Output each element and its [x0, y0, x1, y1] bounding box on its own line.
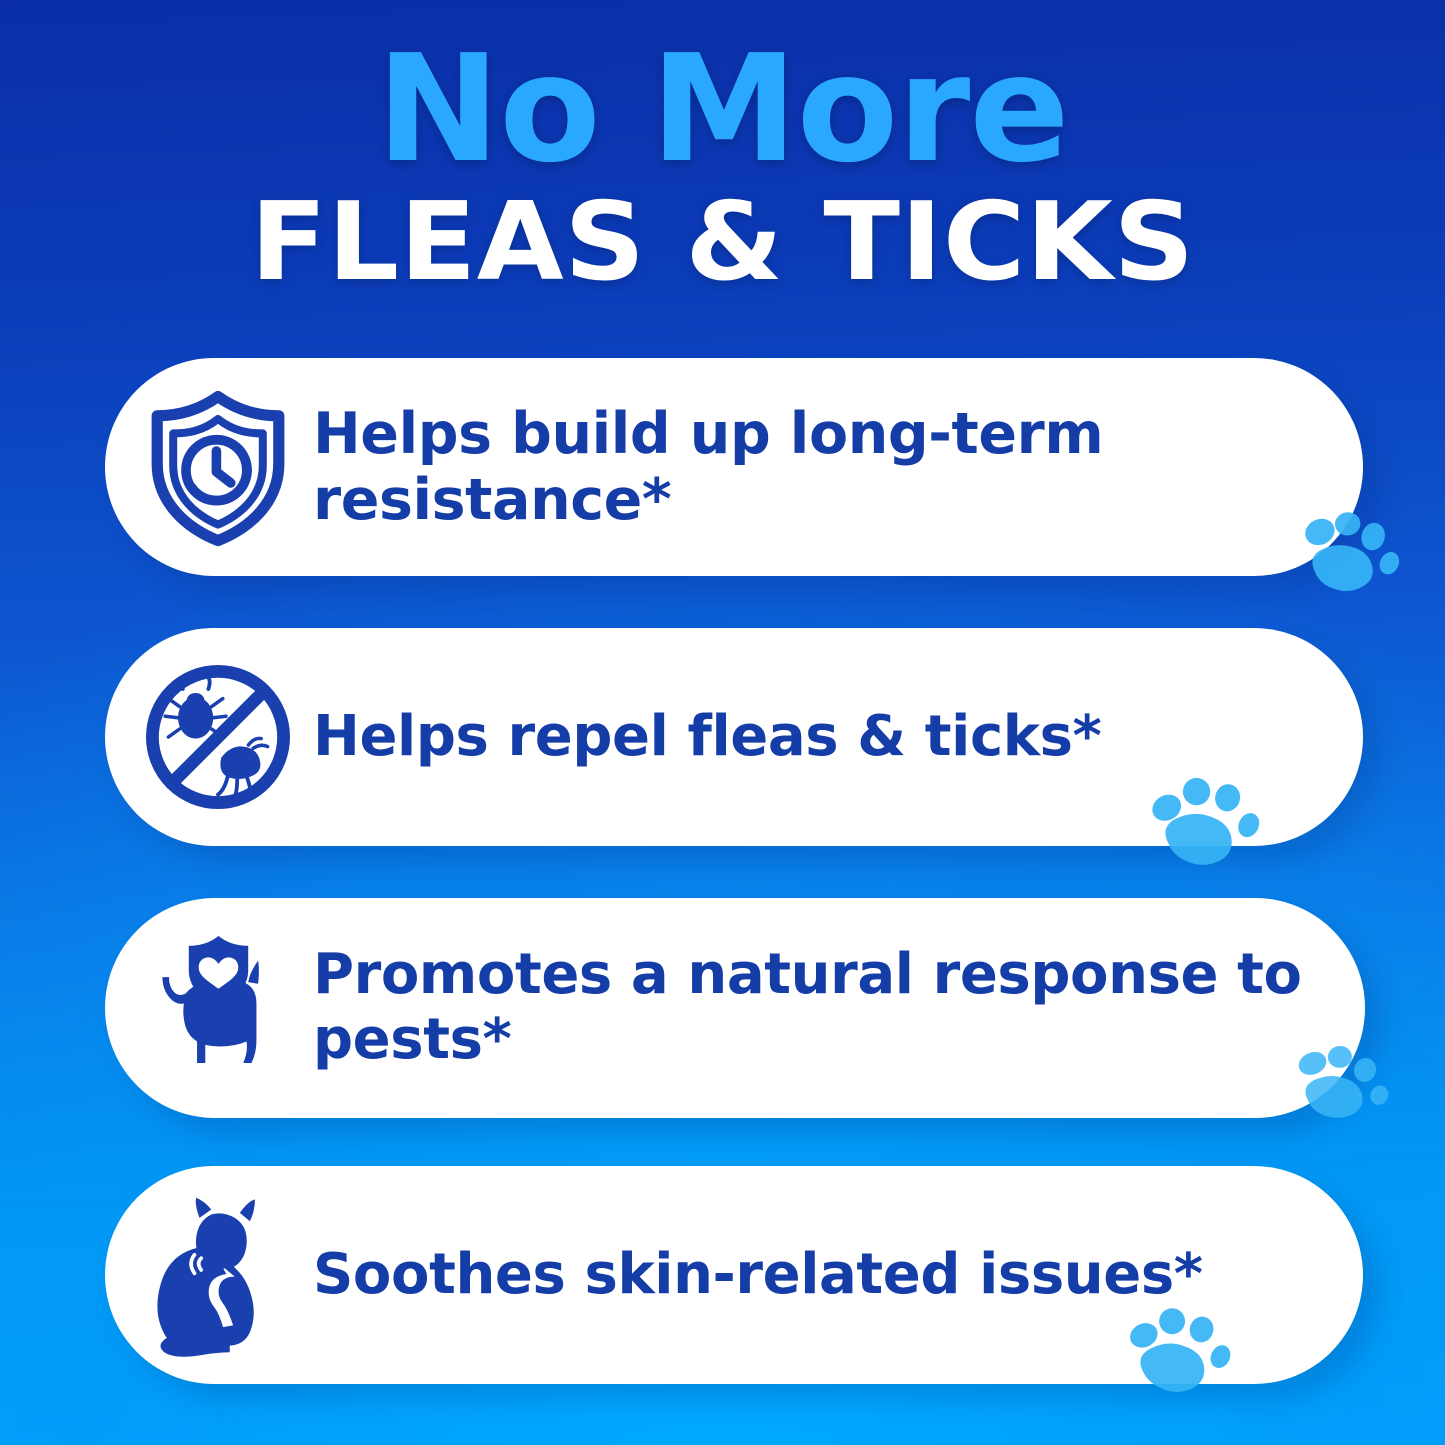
benefit-card-1-text: Helps build up long-term resistance*: [313, 401, 1363, 533]
benefit-card-4: Soothes skin-related issues*: [105, 1166, 1363, 1384]
benefit-card-2-text: Helps repel fleas & ticks*: [313, 705, 1363, 770]
headline-primary: No More: [0, 34, 1445, 185]
benefit-card-1: Helps build up long-term resistance*: [105, 358, 1363, 576]
headline-secondary: FLEAS & TICKS: [0, 189, 1445, 297]
no-fleas-ticks-icon: [133, 652, 303, 822]
cat-scratching-icon: [133, 1190, 303, 1360]
shield-clock-icon: [133, 382, 303, 552]
promo-graphic: No More FLEAS & TICKS Helps build up lon…: [0, 0, 1445, 1445]
benefit-card-3-text: Promotes a natural response to pests*: [313, 943, 1365, 1073]
headline-block: No More FLEAS & TICKS: [0, 34, 1445, 297]
benefit-card-2: Helps repel fleas & ticks*: [105, 628, 1363, 846]
benefit-card-3: Promotes a natural response to pests*: [105, 898, 1365, 1118]
benefit-card-4-text: Soothes skin-related issues*: [313, 1243, 1363, 1308]
cat-shield-heart-icon: [133, 923, 303, 1093]
